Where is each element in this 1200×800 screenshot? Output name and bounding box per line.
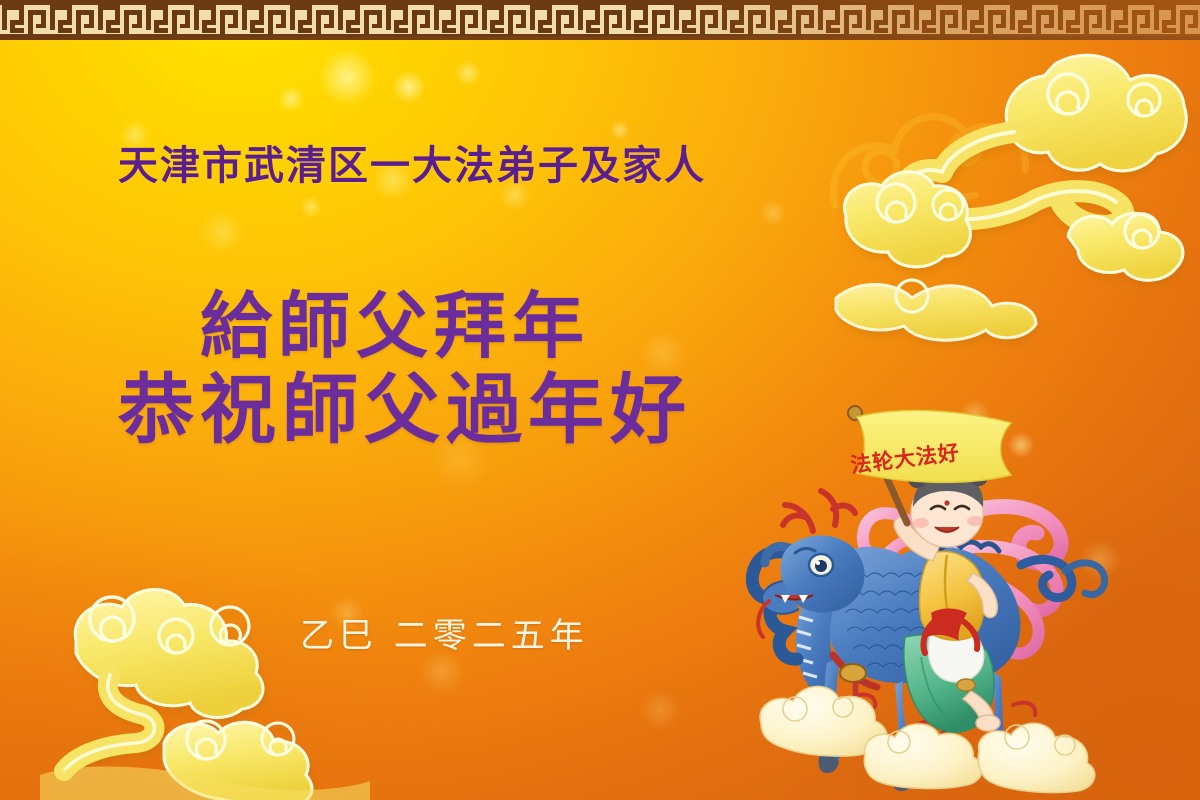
greek-key-meander-pattern (0, 0, 1200, 40)
date-line: 乙巳 二零二五年 (300, 608, 589, 657)
new-year-greeting-card: 法轮大法好 (0, 0, 1200, 800)
greeting-line-2: 恭祝師父過年好 (118, 348, 692, 458)
child-riding-dragon-illustration (735, 405, 1135, 800)
banner-flag (857, 410, 1011, 482)
decorative-top-border (0, 0, 1200, 40)
sender-line: 天津市武清区一大法弟子及家人 (118, 133, 706, 191)
border-bottom-rule (0, 36, 1200, 40)
